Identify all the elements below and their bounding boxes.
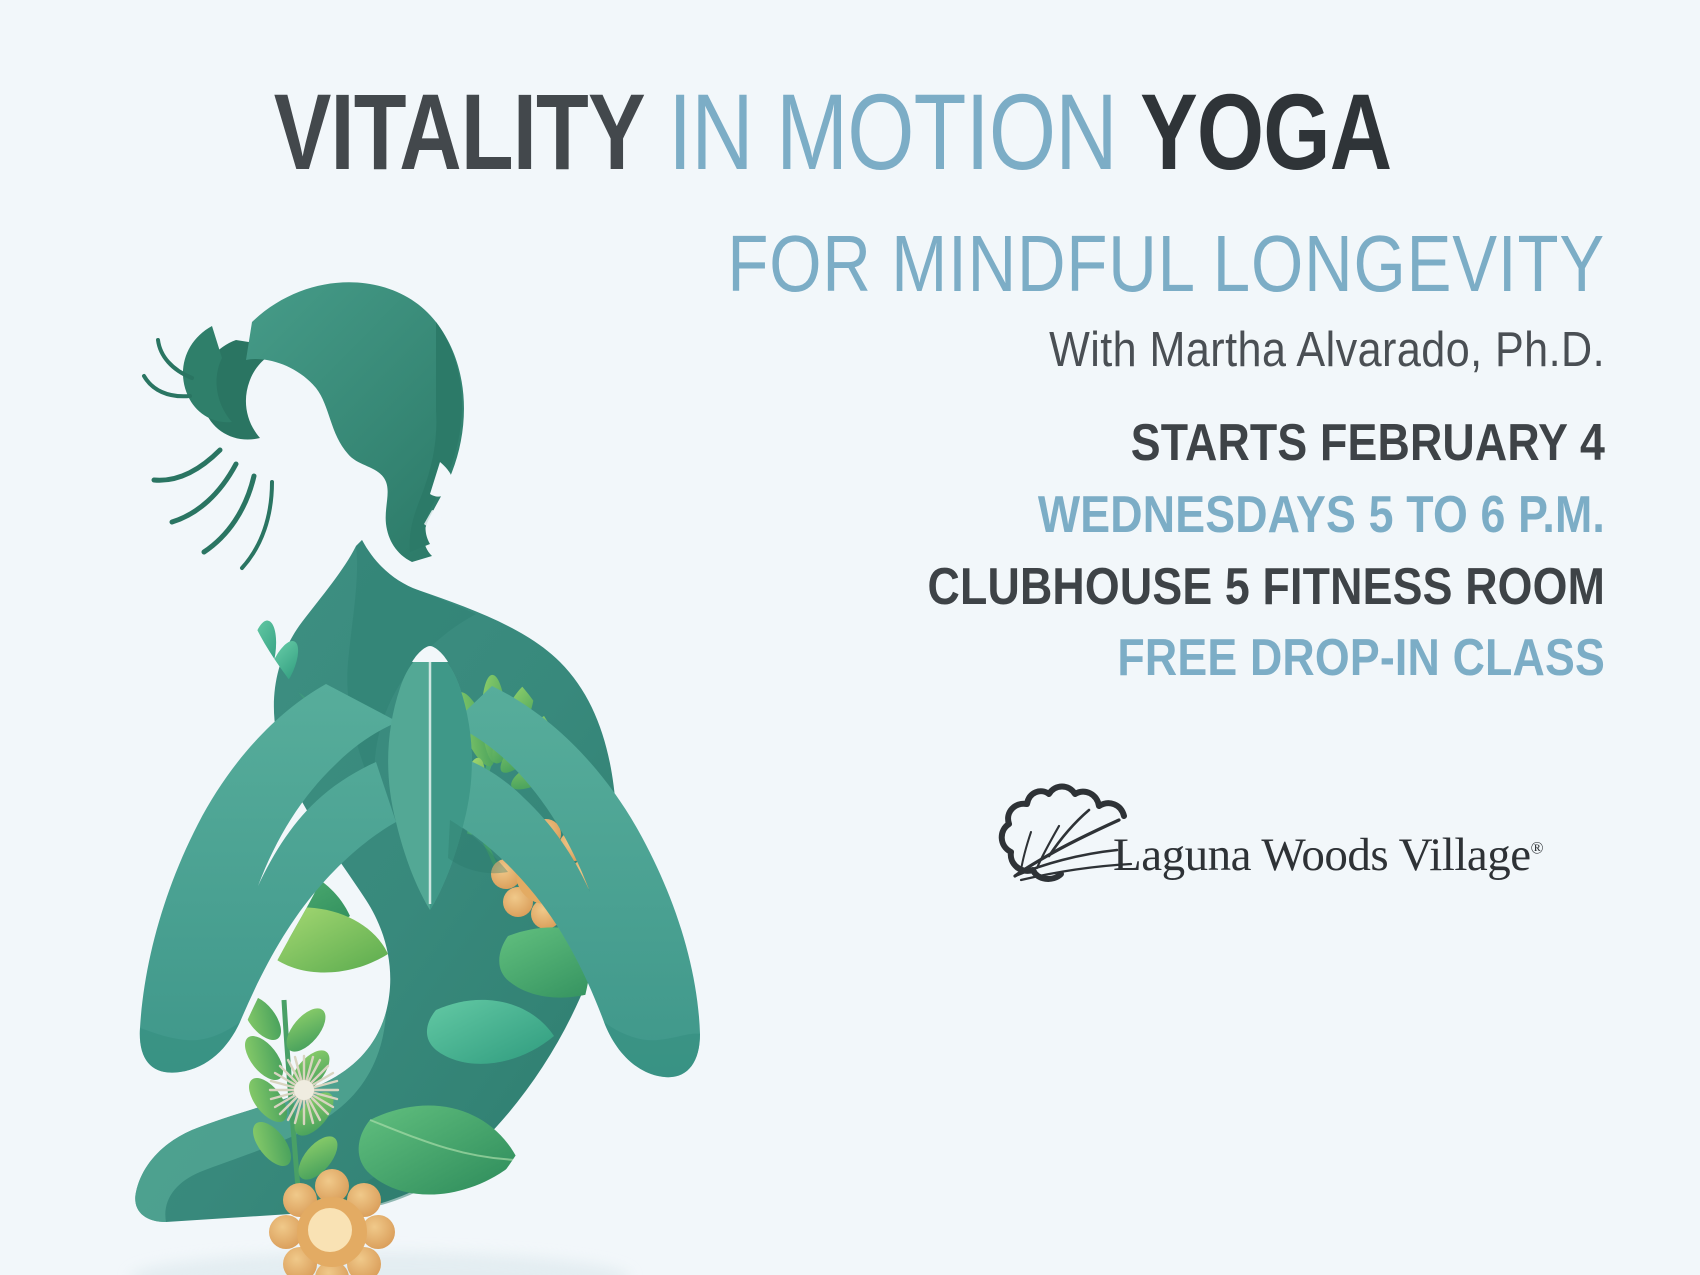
logo-wordmark: Laguna Woods Village® [1113,828,1544,882]
poster-canvas: VITALITY IN MOTION YOGA FOR MINDFUL LONG… [0,0,1700,1275]
detail-line-location: CLUBHOUSE 5 FITNESS ROOM [655,552,1605,624]
page-subtitle: FOR MINDFUL LONGEVITY [509,218,1605,310]
detail-line-start-date: STARTS FEBRUARY 4 [655,408,1605,480]
registered-trademark-icon: ® [1531,838,1544,857]
instructor-line: With Martha Alvarado, Ph.D. [633,322,1605,378]
detail-line-price: FREE DROP-IN CLASS [655,623,1605,695]
page-title: VITALITY IN MOTION YOGA [215,78,1451,186]
headline-part-2: IN MOTION [668,71,1117,192]
headline-part-1: VITALITY [274,71,645,192]
head-group [144,282,464,568]
class-details-block: STARTS FEBRUARY 4 WEDNESDAYS 5 TO 6 P.M.… [500,408,1605,695]
detail-line-schedule: WEDNESDAYS 5 TO 6 P.M. [655,480,1605,552]
flower-dandelion [270,1056,338,1124]
headline-part-3: YOGA [1140,71,1391,192]
logo-wordmark-text: Laguna Woods Village [1113,829,1531,881]
laguna-woods-village-logo: Laguna Woods Village® [985,768,1485,888]
